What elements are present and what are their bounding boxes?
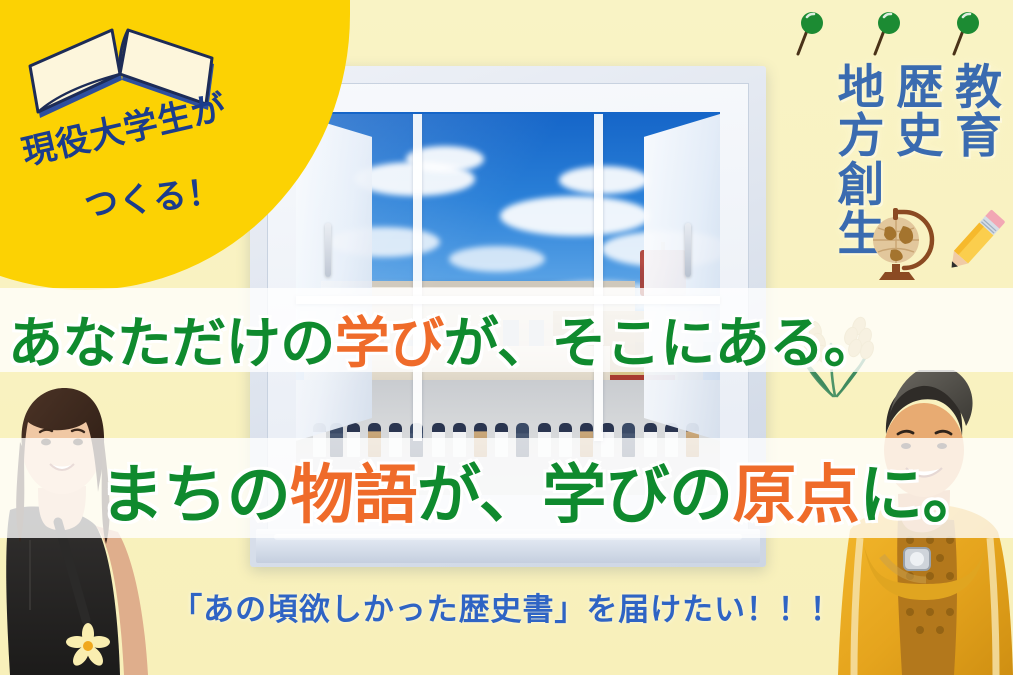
cloud <box>559 166 649 194</box>
globe-icon <box>865 198 935 284</box>
headline-2-accent-genten: 原点 <box>732 459 859 531</box>
headline-primary: あなただけの学びが、そこにある。 <box>8 298 878 378</box>
headline-1-part-b: が、そこにある。 <box>444 312 879 374</box>
bottom-tagline: 「あの頃欲しかった歴史書」を届けたい！！！ <box>0 584 1013 629</box>
banner-canvas: 現役大学生が つくる！ 地方創生 歴史 教育 <box>0 0 1013 675</box>
green-pin-icon <box>875 12 900 54</box>
headline-2-part-a: まちの <box>100 459 290 531</box>
green-pin-icon <box>798 12 823 54</box>
pin-row <box>788 6 1003 60</box>
cloud <box>500 196 650 236</box>
window-handle[interactable] <box>685 223 691 277</box>
cloud <box>449 246 545 272</box>
window-mullion <box>594 114 603 441</box>
window-handle[interactable] <box>325 223 331 277</box>
headline-2-accent-monogatari: 物語 <box>290 459 417 531</box>
window-sash-right <box>644 114 720 441</box>
green-pin-icon <box>954 12 979 54</box>
headline-2-part-c: に。 <box>859 459 986 531</box>
window-mullion <box>413 114 422 441</box>
pencil-icon <box>939 200 1009 284</box>
headline-1-accent-manabi: 学び <box>335 312 444 374</box>
headline-secondary: まちの物語が、学びの原点に。 <box>100 444 986 536</box>
headline-1-part-a: あなただけの <box>8 312 335 374</box>
headline-2-part-b: が、学びの <box>417 459 733 531</box>
